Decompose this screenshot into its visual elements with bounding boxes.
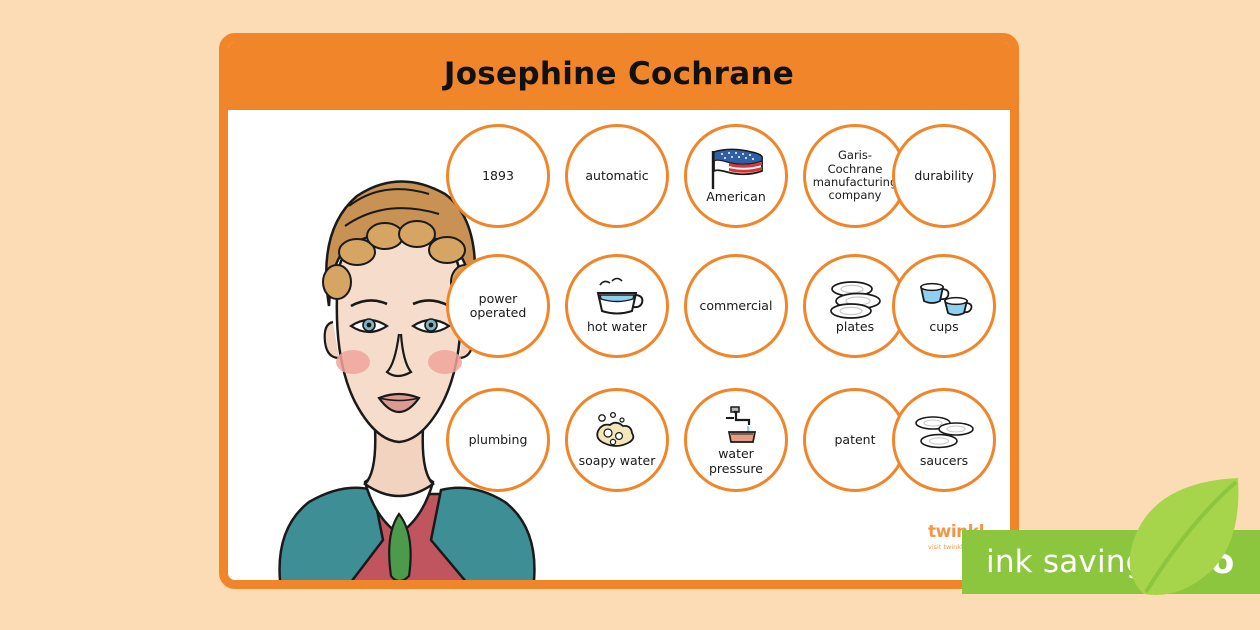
bowl-of-hot-water-icon [586,277,648,319]
stack-of-plates-icon [824,277,886,319]
bubble-label: durability [908,169,979,184]
bubble-label: Garis- Cochrane manufacturing company [807,149,904,202]
three-saucers-icon [913,411,975,453]
ink-saving-eco-badge: ink saving Eco [930,494,1260,626]
bubble-label: hot water [587,320,647,334]
bubble-label: plates [836,320,874,334]
soapy-bubbles-icon [586,411,648,453]
word-bubble-grid: 1893 automatic [428,114,1016,584]
screenshot-root: Josephine Cochrane [0,0,1260,630]
bubble-label: water pressure [709,447,763,476]
bubble-label: automatic [579,169,654,184]
bubble-label: American [706,190,766,204]
bubble-label: power operated [449,292,547,321]
bubble-hot-water[interactable]: hot water [565,254,669,358]
bubble-label: patent [828,433,881,448]
bubble-cups[interactable]: cups [892,254,996,358]
bubble-power-operated[interactable]: power operated [446,254,550,358]
bubble-soapy-water[interactable]: soapy water [565,388,669,492]
bubble-label: saucers [920,454,968,468]
page-title: Josephine Cochrane [228,56,1010,92]
leaf-icon [1118,472,1250,600]
bubble-label: commercial [694,299,779,314]
bubble-label: soapy water [579,454,656,468]
bubble-american[interactable]: American [684,124,788,228]
bubble-automatic[interactable]: automatic [565,124,669,228]
word-mat-poster: Josephine Cochrane [219,33,1019,589]
bubble-label: cups [929,320,958,334]
bubble-label: 1893 [476,169,520,184]
tap-water-pressure-icon [705,404,767,446]
bubble-1893[interactable]: 1893 [446,124,550,228]
bubble-durability[interactable]: durability [892,124,996,228]
bubble-saucers[interactable]: saucers [892,388,996,492]
bubble-plumbing[interactable]: plumbing [446,388,550,492]
bubble-water-pressure[interactable]: water pressure [684,388,788,492]
usa-flag-icon [705,147,767,189]
bubble-label: plumbing [463,433,534,448]
bubble-commercial[interactable]: commercial [684,254,788,358]
two-teacups-icon [913,277,975,319]
